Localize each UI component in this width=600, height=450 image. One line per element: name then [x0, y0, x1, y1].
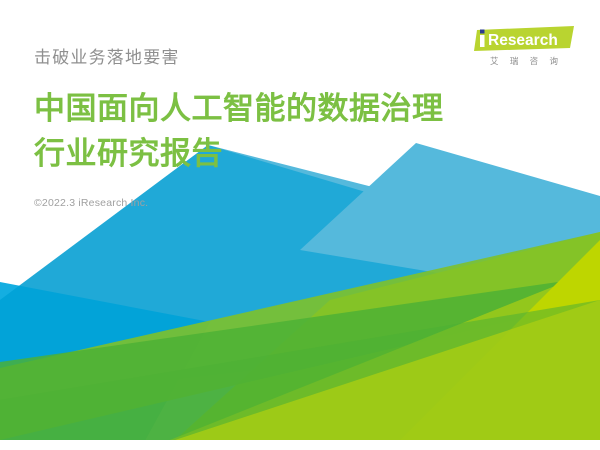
- copyright-notice: ©2022.3 iResearch Inc.: [34, 196, 554, 210]
- shape-bottom-white-strip: [0, 440, 600, 450]
- report-cover-page: Research 艾 瑞 咨 询 击破业务落地要害 中国面向人工智能的数据治理 …: [0, 0, 600, 450]
- cover-kicker: 击破业务落地要害: [34, 46, 554, 70]
- page-title: 中国面向人工智能的数据治理 行业研究报告: [34, 86, 514, 176]
- cover-text-block: 击破业务落地要害 中国面向人工智能的数据治理 行业研究报告 ©2022.3 iR…: [34, 46, 554, 210]
- page-title-line-1: 中国面向人工智能的数据治理: [34, 86, 514, 131]
- page-title-line-2: 行业研究报告: [34, 131, 514, 176]
- logo-i-dot: [480, 30, 485, 34]
